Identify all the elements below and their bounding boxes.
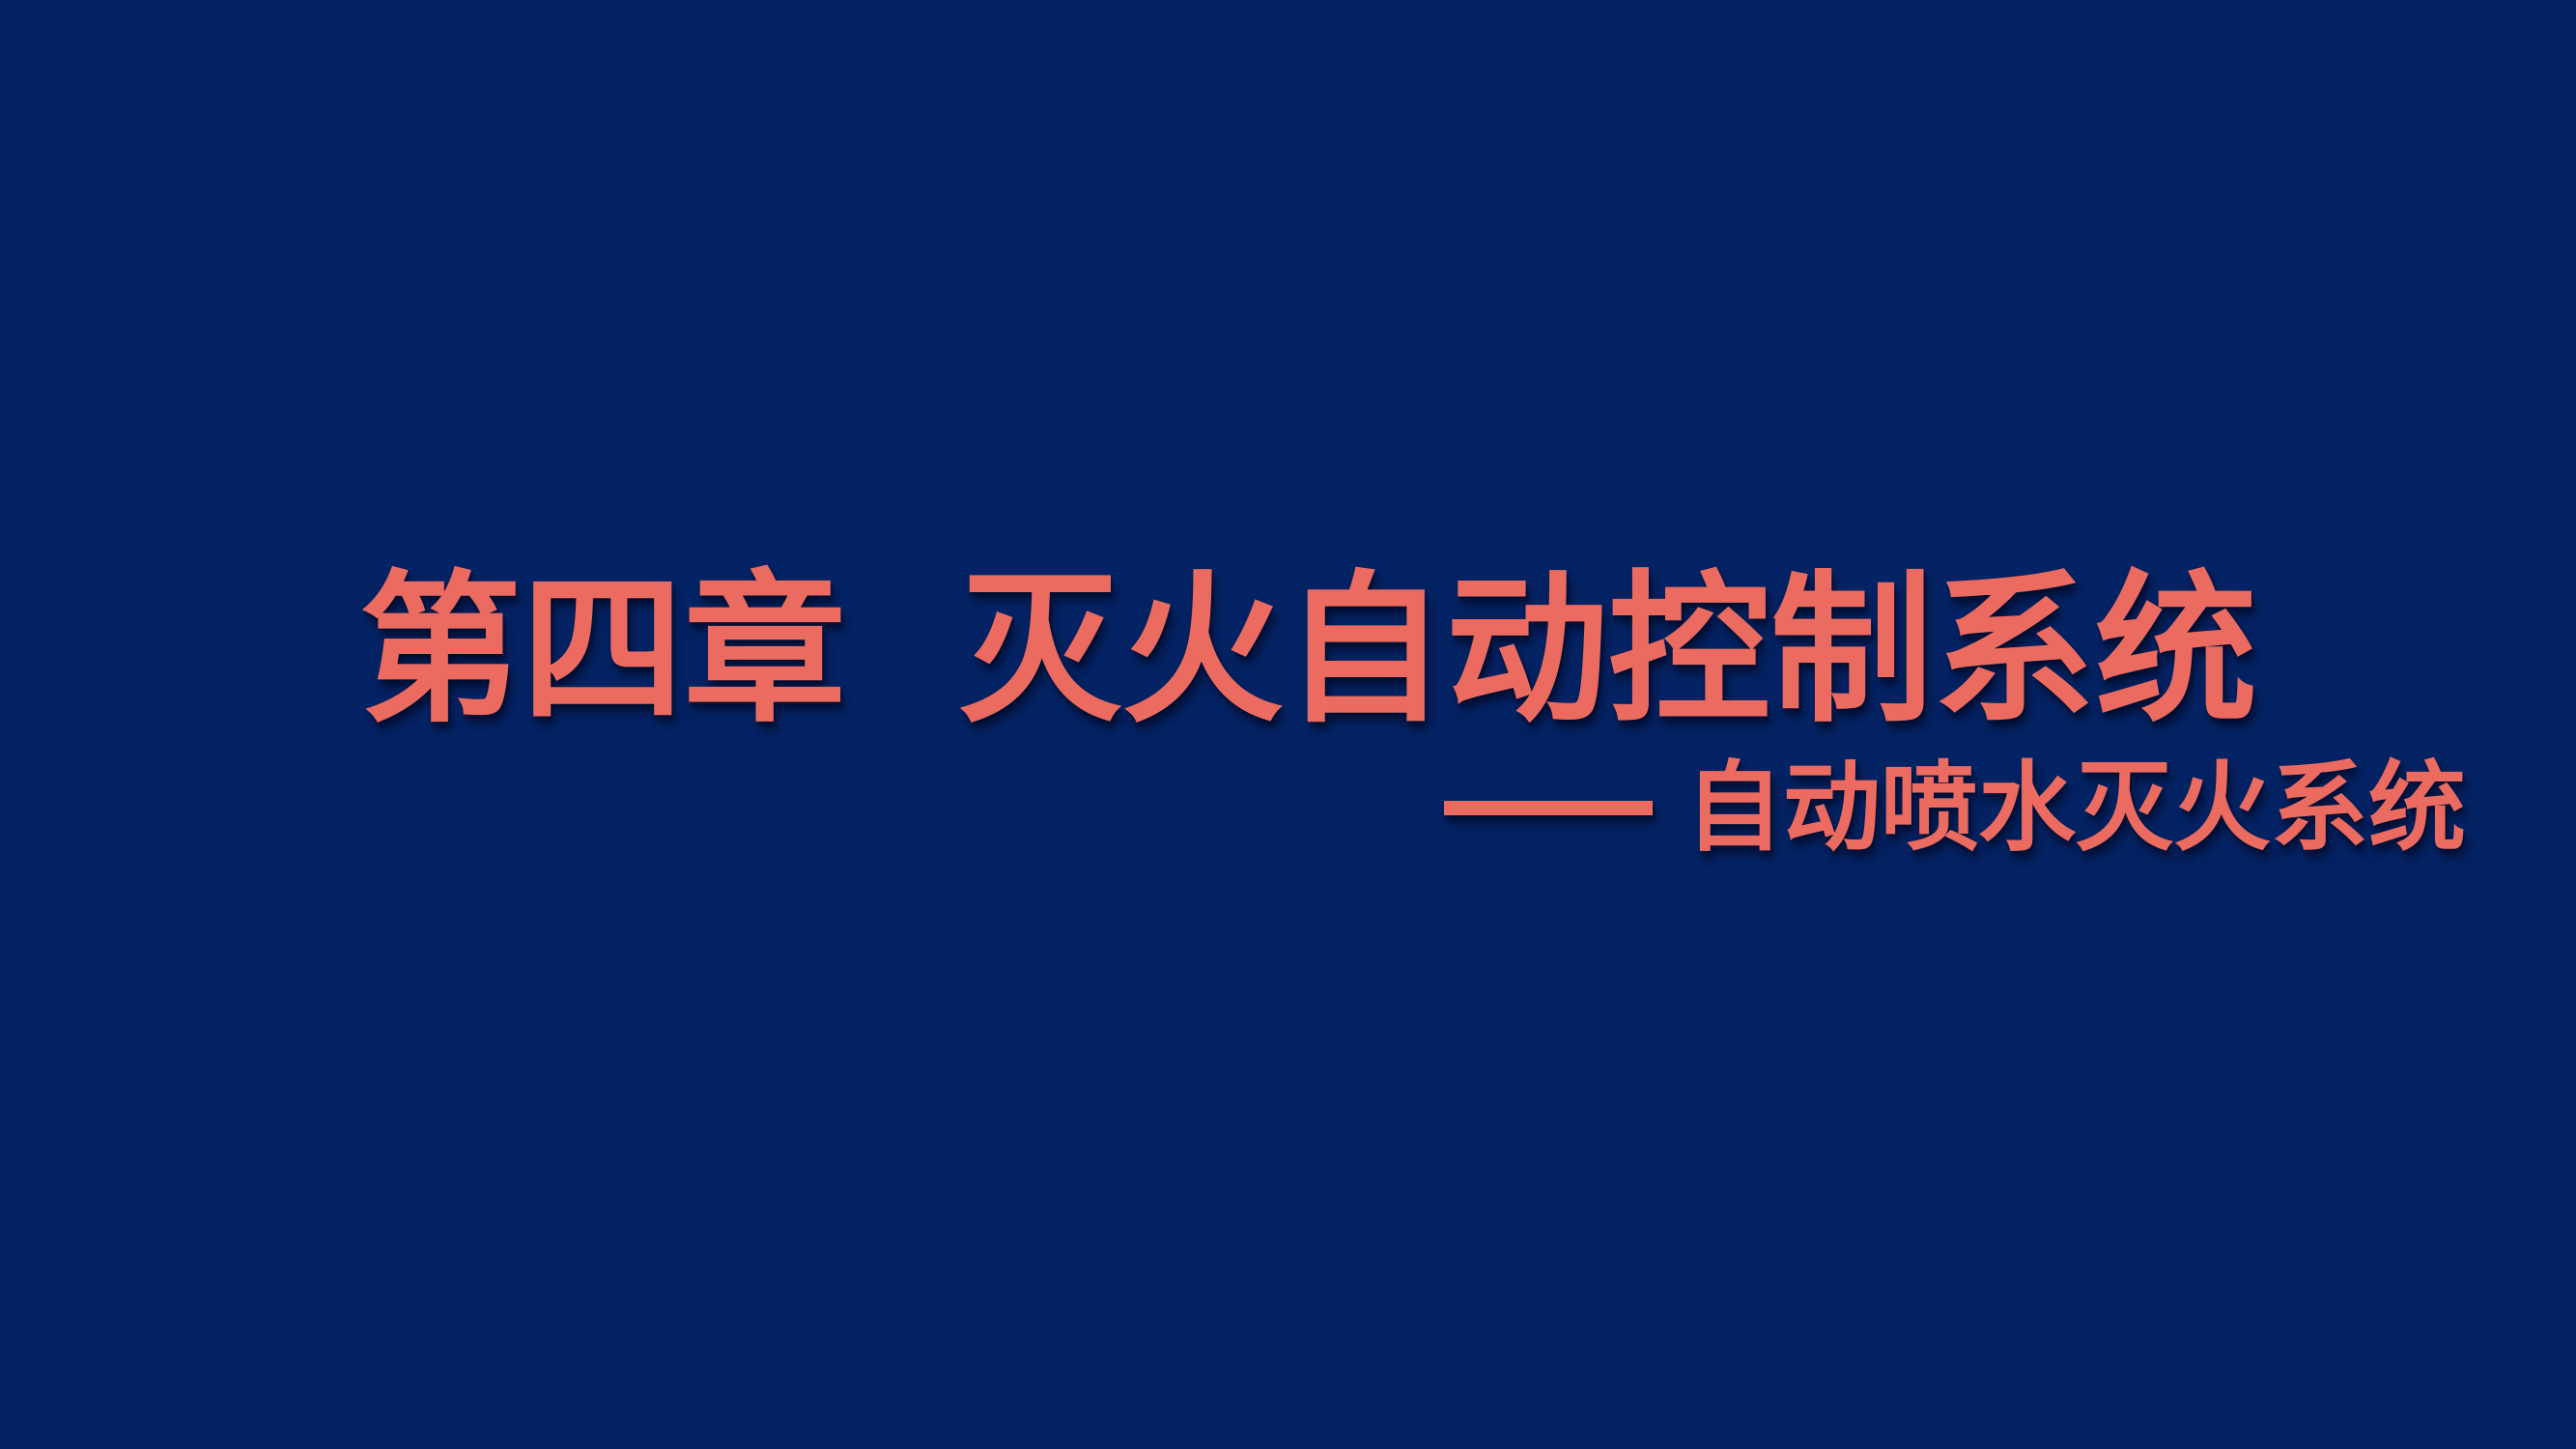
page-subtitle: 自动喷水灭火系统	[1685, 753, 2466, 863]
slide-canvas: 第四章 灭火自动控制系统 自动喷水灭火系统	[0, 0, 2576, 1449]
title-block: 第四章 灭火自动控制系统 自动喷水灭火系统	[0, 0, 2576, 1449]
em-dash-rule-icon	[1444, 801, 1653, 815]
page-title: 第四章 灭火自动控制系统	[359, 568, 2257, 733]
subtitle-row: 自动喷水灭火系统	[1444, 753, 2466, 863]
